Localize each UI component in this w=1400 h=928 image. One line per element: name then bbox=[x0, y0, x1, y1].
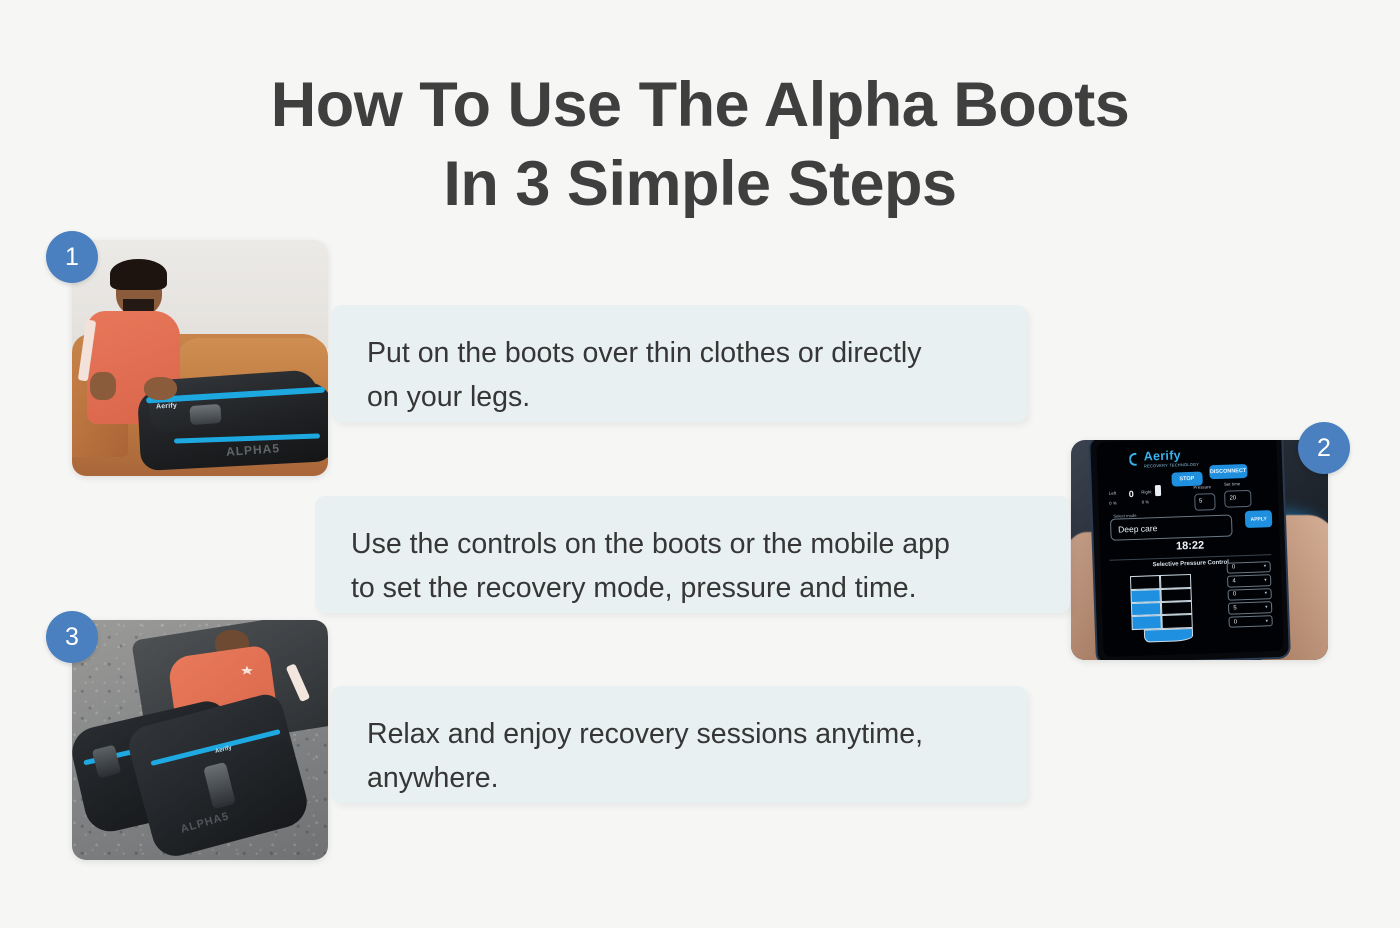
app-left-unit: 0 % bbox=[1109, 501, 1117, 506]
step-2-text-card: Use the controls on the boots or the mob… bbox=[315, 496, 1070, 613]
step-2-text-line-1: Use the controls on the boots or the mob… bbox=[351, 522, 1036, 566]
chamber-select-5[interactable]: 0 bbox=[1228, 615, 1272, 628]
chamber-select-4[interactable]: 5 bbox=[1228, 602, 1272, 615]
app-apply-button[interactable]: APPLY bbox=[1244, 511, 1272, 529]
photo2-smartphone: Aerify RECOVERY TECHNOLOGY STOP DISCONNE… bbox=[1088, 440, 1291, 660]
step-2-photo: Aerify RECOVERY TECHNOLOGY STOP DISCONNE… bbox=[1071, 440, 1328, 660]
app-disconnect-button[interactable]: DISCONNECT bbox=[1208, 464, 1246, 479]
app-set-time-select[interactable]: 20 bbox=[1224, 490, 1252, 508]
chamber-select-2[interactable]: 4 bbox=[1227, 575, 1271, 588]
step-1-text-card: Put on the boots over thin clothes or di… bbox=[331, 305, 1027, 422]
step-3-text-line-2: anywhere. bbox=[367, 756, 993, 800]
step-1-number-badge: 1 bbox=[46, 231, 98, 283]
aerify-wave-icon bbox=[1129, 453, 1142, 466]
leg-cell-4b[interactable] bbox=[1161, 615, 1192, 629]
app-chamber-selectors: 0 4 0 5 0 bbox=[1226, 561, 1272, 640]
app-left-value: 0 bbox=[1128, 490, 1133, 500]
leg-cell-foot[interactable] bbox=[1143, 628, 1192, 643]
step-2-number-badge: 2 bbox=[1298, 422, 1350, 474]
battery-icon bbox=[1154, 485, 1160, 496]
app-leg-diagram bbox=[1129, 575, 1193, 644]
chamber-select-3[interactable]: 0 bbox=[1227, 588, 1271, 601]
app-right-unit: 0 % bbox=[1141, 500, 1149, 505]
page-title: How To Use The Alpha Boots In 3 Simple S… bbox=[0, 66, 1400, 224]
chamber-select-1[interactable]: 0 bbox=[1226, 561, 1270, 574]
app-brand-name: Aerify bbox=[1143, 448, 1181, 463]
step-1-text-line-2: on your legs. bbox=[367, 375, 993, 419]
photo2-phone-screen: Aerify RECOVERY TECHNOLOGY STOP DISCONNE… bbox=[1096, 440, 1284, 657]
app-pressure-label: Pressure bbox=[1193, 485, 1211, 491]
photo1-person-hair bbox=[110, 259, 166, 290]
step-2-text-line-2: to set the recovery mode, pressure and t… bbox=[351, 566, 1036, 610]
photo1-boot-pump-unit bbox=[189, 404, 221, 425]
step-3-text-card: Relax and enjoy recovery sessions anytim… bbox=[331, 686, 1027, 803]
app-pressure-select[interactable]: 5 bbox=[1193, 493, 1215, 511]
app-select-mode-value[interactable]: Deep care bbox=[1109, 515, 1232, 541]
step-3-photo: Aerify ALPHA5 bbox=[72, 620, 328, 860]
photo1-brand-logo: Aerify bbox=[156, 402, 177, 410]
photo1-person-hand bbox=[144, 377, 177, 401]
app-set-time-label: Set time bbox=[1223, 482, 1239, 488]
page-title-line-1: How To Use The Alpha Boots bbox=[0, 66, 1400, 145]
step-3-number-badge: 3 bbox=[46, 611, 98, 663]
step-1-photo: Aerify ALPHA5 bbox=[72, 240, 328, 476]
app-right-label: Right bbox=[1141, 490, 1151, 495]
app-brand-logo: Aerify RECOVERY TECHNOLOGY bbox=[1143, 448, 1199, 469]
infographic-canvas: How To Use The Alpha Boots In 3 Simple S… bbox=[0, 0, 1400, 928]
page-title-line-2: In 3 Simple Steps bbox=[0, 145, 1400, 224]
app-left-label: Left bbox=[1108, 491, 1116, 496]
leg-cell-4a[interactable] bbox=[1131, 616, 1162, 630]
photo1-person-arm bbox=[90, 372, 116, 400]
step-3-text-line-1: Relax and enjoy recovery sessions anytim… bbox=[367, 712, 993, 756]
step-1-text-line-1: Put on the boots over thin clothes or di… bbox=[367, 331, 993, 375]
app-brand-tagline: RECOVERY TECHNOLOGY bbox=[1143, 462, 1198, 469]
